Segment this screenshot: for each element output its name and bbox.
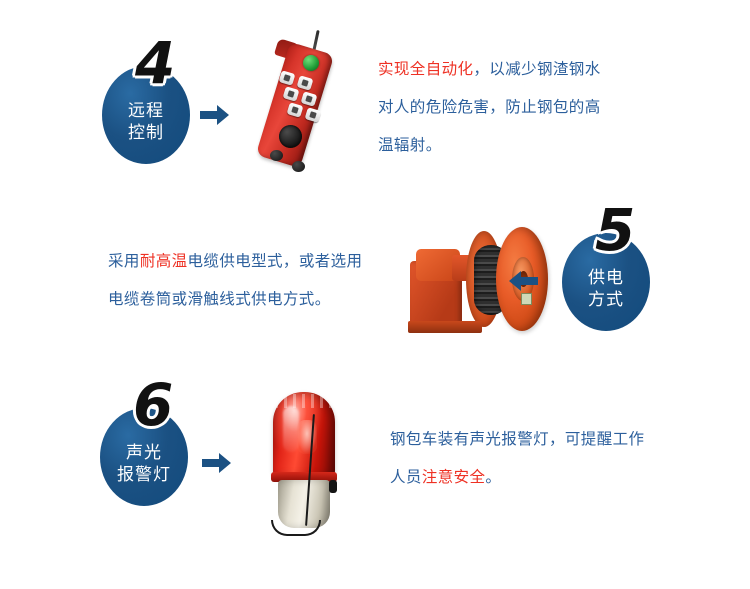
beacon-wire-loop [271, 520, 321, 536]
normal-text: 对人的危险危害，防止钢包的高 [378, 98, 601, 116]
remote-foot [292, 161, 305, 172]
text-line: 温辐射。 [378, 126, 601, 164]
arrow-right-icon [200, 104, 230, 126]
highlight-text: 实现全自动化 [378, 60, 473, 78]
highlight-text: 耐高温 [140, 252, 188, 270]
beacon-dome-ribs [275, 394, 333, 408]
arrow-left-icon [508, 270, 538, 292]
normal-text: 人员 [390, 468, 422, 486]
feature-badge-label-4: 远程 控制 [102, 100, 190, 144]
feature-row-6: 6 声光 报警灯 钢包车装有声光报警灯，可提醒工作 人员注意安全。 [0, 370, 750, 589]
cable-reel-photo [408, 221, 568, 341]
reel-foot [408, 321, 482, 333]
badge-label-line-1: 远程 [102, 100, 190, 122]
badge-label-line-2: 报警灯 [100, 464, 188, 486]
normal-text: ，以减少钢渣钢水 [473, 60, 600, 78]
highlight-text: 注意安全 [422, 468, 486, 486]
feature-number-5: 5 [595, 201, 634, 259]
remote-green-indicator [303, 55, 319, 71]
normal-text: 电缆供电型式，或者选用 [188, 252, 363, 270]
feature-number-4: 4 [135, 34, 174, 92]
badge-label-line-2: 方式 [562, 289, 650, 311]
feature-badge-label-6: 声光 报警灯 [100, 442, 188, 486]
text-line: 人员注意安全。 [390, 458, 644, 496]
text-line: 实现全自动化，以减少钢渣钢水 [378, 50, 601, 88]
normal-text: 温辐射。 [378, 136, 442, 154]
text-line: 对人的危险危害，防止钢包的高 [378, 88, 601, 126]
feature-text-5: 采用耐高温电缆供电型式，或者选用 电缆卷筒或滑触线式供电方式。 [108, 242, 362, 318]
feature-badge-label-5: 供电 方式 [562, 267, 650, 311]
feature-text-6: 钢包车装有声光报警灯，可提醒工作 人员注意安全。 [390, 420, 644, 496]
feature-badge-5: 5 供电 方式 [562, 233, 650, 331]
feature-row-5: 采用耐高温电缆供电型式，或者选用 电缆卷筒或滑触线式供电方式。 5 供电 [0, 190, 750, 370]
remote-control-photo [240, 28, 360, 178]
feature-badge-4: 4 远程 控制 [102, 66, 190, 164]
text-line: 电缆卷筒或滑触线式供电方式。 [108, 280, 362, 318]
badge-label-line-2: 控制 [102, 122, 190, 144]
alarm-beacon-photo [253, 384, 373, 534]
text-line: 钢包车装有声光报警灯，可提醒工作 [390, 420, 644, 458]
remote-dial [279, 125, 302, 148]
reel-nameplate [521, 293, 532, 305]
infographic-page: 4 远程 控制 实现全自动化，以减 [0, 0, 750, 589]
arrow-right-icon [202, 452, 232, 474]
text-line: 采用耐高温电缆供电型式，或者选用 [108, 242, 362, 280]
beacon-plug [329, 480, 337, 493]
normal-text: 。 [485, 468, 501, 486]
feature-badge-6: 6 声光 报警灯 [100, 408, 188, 506]
remote-foot [270, 150, 283, 161]
normal-text: 钢包车装有声光报警灯，可提醒工作 [390, 430, 644, 448]
normal-text: 电缆卷筒或滑触线式供电方式。 [108, 290, 331, 308]
feature-number-6: 6 [133, 376, 172, 434]
feature-row-4: 4 远程 控制 实现全自动化，以减 [0, 0, 750, 190]
badge-label-line-1: 声光 [100, 442, 188, 464]
normal-text: 采用 [108, 252, 140, 270]
badge-label-line-1: 供电 [562, 267, 650, 289]
feature-text-4: 实现全自动化，以减少钢渣钢水 对人的危险危害，防止钢包的高 温辐射。 [378, 50, 601, 164]
